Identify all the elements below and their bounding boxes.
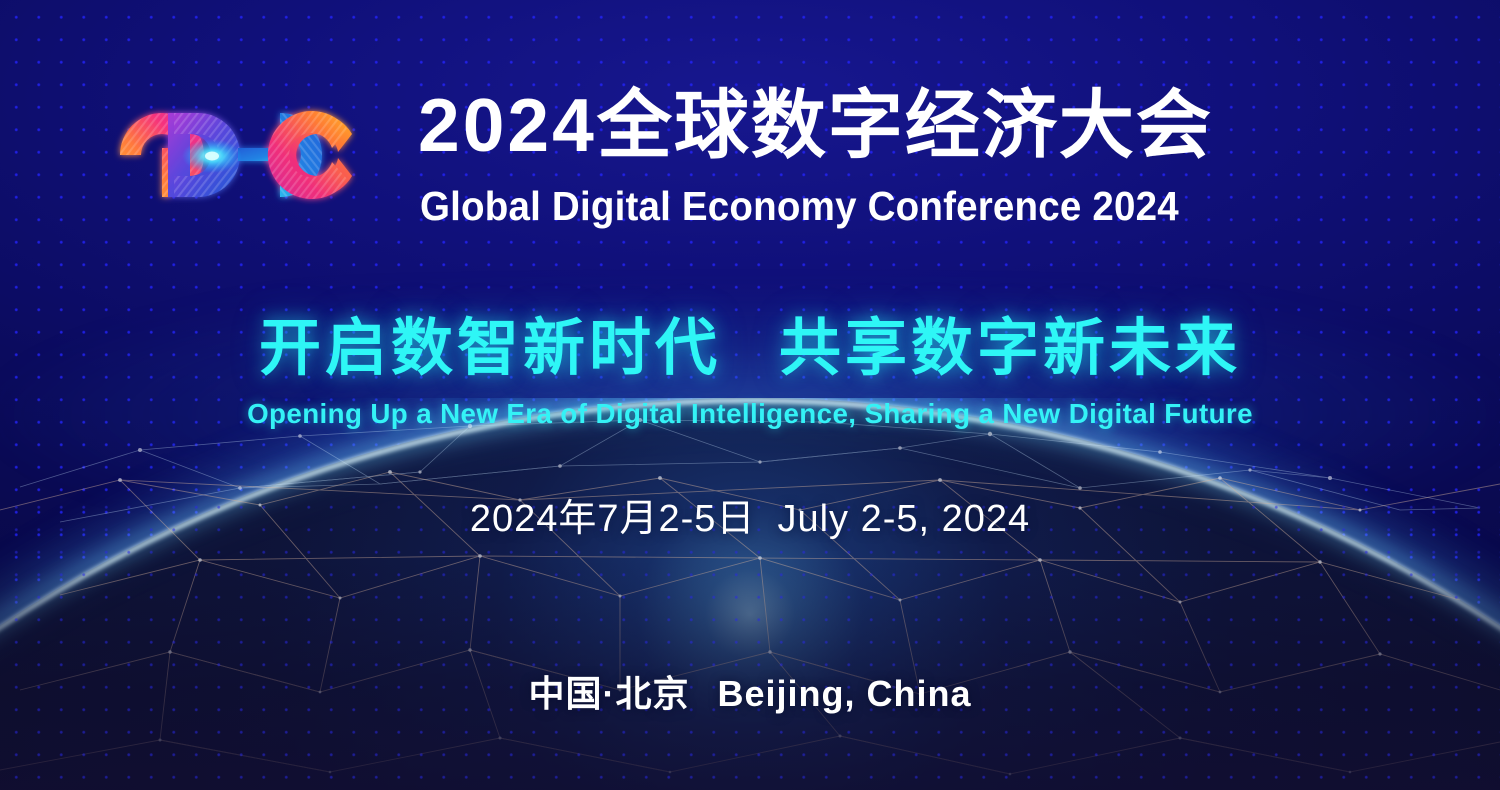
event-dates: 2024年7月2-5日July 2-5, 2024 <box>0 500 1500 538</box>
conference-banner: 2024全球数字经济大会 Global Digital Economy Conf… <box>0 0 1500 790</box>
page-subtitle: Global Digital Economy Conference 2024 <box>420 186 1179 227</box>
event-dates-en: July 2-5, 2024 <box>777 498 1030 540</box>
slogan-cn-part2: 共享数字新未来 <box>779 314 1241 383</box>
event-dates-cn: 2024年7月2-5日 <box>470 498 756 540</box>
title-cn-words: 全球数字经济大会 <box>597 83 1213 167</box>
earth-globe <box>0 398 1500 790</box>
title-year: 2024 <box>418 83 597 167</box>
page-title: 2024全球数字经济大会 <box>418 88 1213 163</box>
gdec-logo <box>62 100 362 210</box>
slogan-cn-part1: 开启数智新时代 <box>259 314 721 383</box>
earth-atmosphere-rim <box>0 398 1500 790</box>
slogan-chinese: 开启数智新时代共享数字新未来 <box>0 318 1500 380</box>
event-location-en: Beijing, China <box>717 673 971 714</box>
event-location: 中国·北京Beijing, China <box>0 676 1500 712</box>
logo-core-spark <box>205 152 219 161</box>
event-location-cn: 中国·北京 <box>528 673 689 714</box>
slogan-english: Opening Up a New Era of Digital Intellig… <box>8 400 1493 428</box>
